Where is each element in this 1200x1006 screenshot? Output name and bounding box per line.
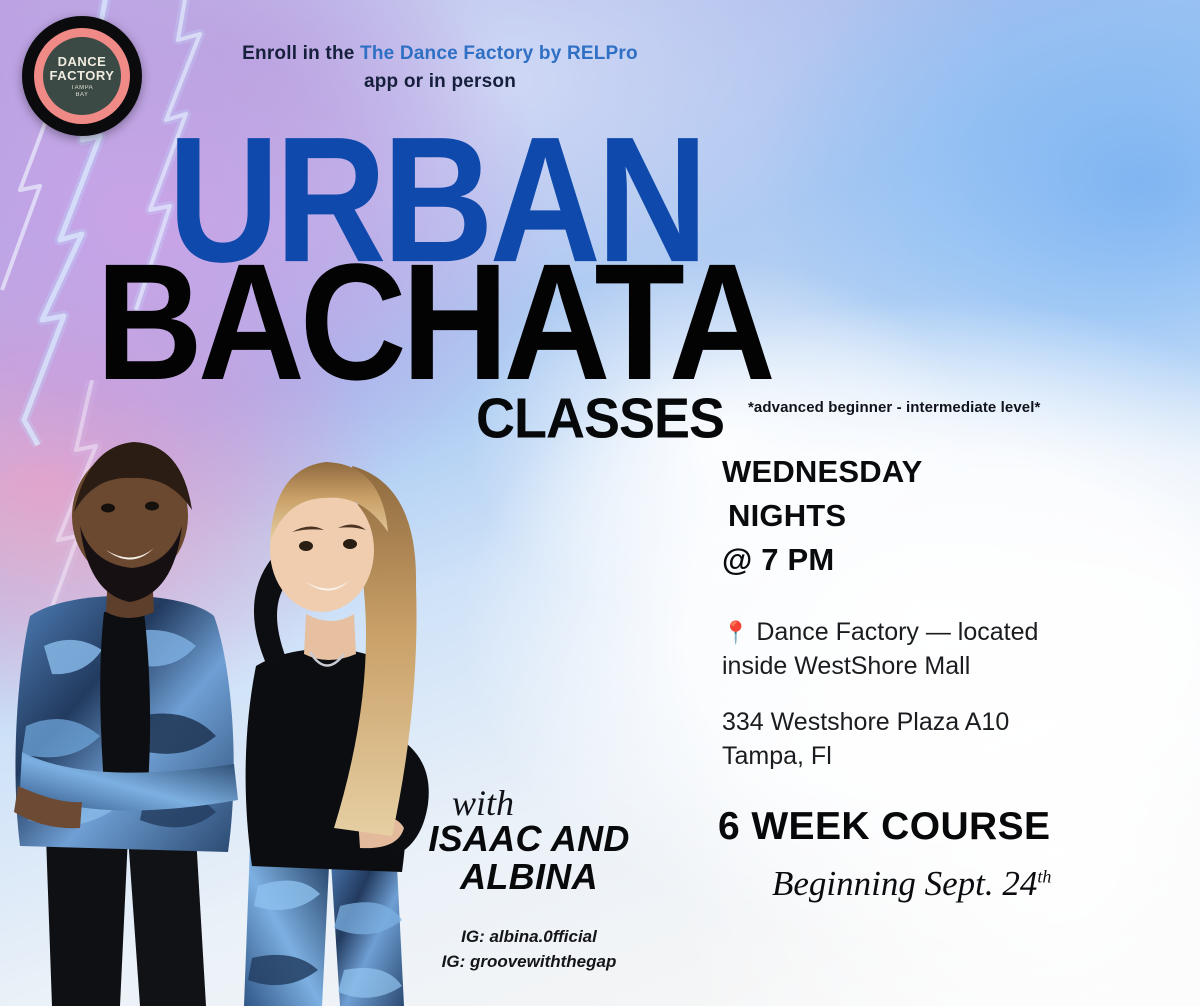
dancers-photo (0, 366, 520, 1006)
logo-inner: DANCE FACTORY TAMPA BAY (43, 37, 121, 115)
logo-line-4: BAY (75, 92, 88, 98)
course-start-prefix: Beginning Sept. 24 (772, 864, 1037, 903)
schedule-day: WEDNESDAY (722, 450, 922, 494)
schedule-period: NIGHTS (722, 494, 922, 538)
dancer-male (14, 442, 238, 1006)
map-pin-icon: 📍 (722, 620, 749, 645)
logo-line-1: DANCE (58, 55, 107, 68)
dance-factory-logo: DANCE FACTORY TAMPA BAY (22, 16, 142, 136)
course-start-date: Beginning Sept. 24th (772, 864, 1051, 904)
logo-ring: DANCE FACTORY TAMPA BAY (34, 28, 130, 124)
schedule-time: @ 7 PM (722, 538, 922, 582)
title-classes: CLASSES (476, 386, 724, 451)
course-duration: 6 WEEK COURSE (718, 805, 1050, 849)
instagram-handle-isaac: IG: groovewiththegap (404, 950, 654, 975)
instructor-names-line-2: ALBINA (404, 858, 654, 896)
venue-line-2: inside WestShore Mall (722, 649, 1122, 683)
instagram-handles: IG: albina.0fficial IG: groovewiththegap (404, 925, 654, 974)
brand-name: The Dance Factory by RELPro (360, 43, 638, 64)
address-line-2: Tampa, Fl (722, 739, 1122, 773)
title-bachata: BACHATA (96, 258, 771, 387)
instagram-handle-albina: IG: albina.0fficial (404, 925, 654, 950)
flyer-poster: DANCE FACTORY TAMPA BAY Enroll in the Th… (0, 0, 1200, 1006)
logo-line-3: TAMPA (71, 85, 93, 91)
enroll-prefix: Enroll in the (242, 43, 360, 64)
course-start-suffix: th (1037, 866, 1051, 886)
instructor-names: ISAAC AND ALBINA (404, 820, 654, 896)
enroll-callout: Enroll in the The Dance Factory by RELPr… (190, 40, 690, 95)
venue-line-1: 📍 Dance Factory — located (722, 615, 1122, 649)
schedule-block: WEDNESDAY NIGHTS @ 7 PM (722, 450, 922, 582)
address-line-1: 334 Westshore Plaza A10 (722, 705, 1122, 739)
dancer-female (244, 462, 429, 1006)
instructor-names-line-1: ISAAC AND (404, 820, 654, 858)
enroll-suffix: app or in person (190, 68, 690, 96)
level-note: *advanced beginner - intermediate level* (748, 399, 1040, 416)
location-block: 📍 Dance Factory — located inside WestSho… (722, 615, 1122, 773)
logo-line-2: FACTORY (50, 69, 115, 82)
venue-name: Dance Factory — located (756, 618, 1038, 646)
